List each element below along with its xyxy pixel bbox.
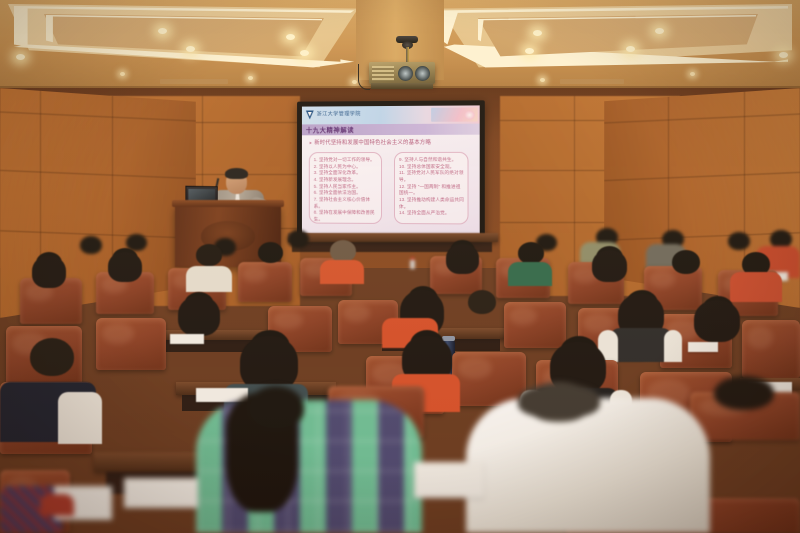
ceiling-downlight-small [540, 78, 545, 82]
lecture-hall-photo: 浙江大学管理学院 十九大精神解读 新时代坚持和发展中国特色社会主义的基本方略 1… [0, 0, 800, 533]
list-item: 9. 坚持人与自然和谐共生。 [399, 157, 464, 164]
water-bottle [410, 260, 415, 269]
ceiling-downlight [286, 34, 295, 40]
attendee-head [196, 244, 222, 266]
attendee-head [330, 240, 356, 262]
list-item: 1. 坚持党对一切工作的领导。 [314, 157, 378, 164]
ceiling-downlight [626, 46, 635, 52]
ceiling-downlight [779, 52, 788, 58]
desk-paper [170, 334, 204, 344]
projector-cable [358, 64, 370, 90]
ceiling-downlight [655, 28, 664, 34]
list-item: 11. 坚持党对人民军队的绝对领导。 [399, 170, 464, 183]
list-item: 4. 坚持新发展理念。 [314, 177, 378, 184]
attendee-white-jacket [466, 398, 710, 533]
attendee-torso [730, 272, 782, 302]
attendee-head [80, 236, 102, 254]
ceiling-downlight-small [248, 76, 253, 80]
projector-base-plate [371, 83, 433, 89]
attendee-hair [32, 256, 66, 288]
attendee-torso [508, 262, 552, 286]
projector-lens-secondary [415, 66, 430, 81]
ceiling-downlight [533, 30, 542, 36]
ceiling-projector [369, 62, 435, 84]
attendee-torso [40, 494, 74, 516]
ceiling-downlight-small [352, 80, 357, 84]
attendee-hair [108, 252, 142, 282]
list-item: 13. 坚持推动构建人类命运共同体。 [399, 197, 464, 211]
list-item: 12. 坚持 “一国两制” 和推进祖国统一。 [399, 184, 464, 198]
slide-subtitle-bullet: 新时代坚持和发展中国特色社会主义的基本方略 [309, 138, 431, 146]
attendee-hair [446, 244, 479, 274]
ceiling-downlight [158, 28, 167, 34]
attendee-torso [186, 266, 232, 292]
ceiling-downlight [525, 48, 534, 54]
ceiling-downlight-small [120, 72, 125, 76]
lectern-top [172, 200, 284, 207]
list-item: 7. 坚持社会主义核心价值体系。 [314, 197, 378, 210]
ceiling-downlight [16, 54, 25, 60]
slide-list-left: 1. 坚持党对一切工作的领导。 2. 坚持以人民为中心。 3. 坚持全面深化改革… [314, 157, 378, 223]
projection-screen: 浙江大学管理学院 十九大精神解读 新时代坚持和发展中国特色社会主义的基本方略 1… [297, 100, 485, 239]
zju-som-logo [305, 109, 315, 120]
hvac-vent [560, 79, 624, 84]
slide-list-box-right: 9. 坚持人与自然和谐共生。 10. 坚持总体国家安全观。 11. 坚持党对人民… [394, 152, 469, 225]
slide-content: 浙江大学管理学院 十九大精神解读 新时代坚持和发展中国特色社会主义的基本方略 1… [302, 105, 480, 234]
attendee-torso [664, 330, 682, 362]
slide-list-right: 9. 坚持人与自然和谐共生。 10. 坚持总体国家安全观。 11. 坚持党对人民… [399, 157, 464, 217]
list-item: 14. 坚持全面从严治党。 [399, 210, 464, 217]
attendee-torso [320, 260, 364, 284]
projector-lens [398, 66, 413, 81]
projector-keypad [372, 66, 394, 81]
attendee-hair [178, 296, 220, 336]
attendee-head [714, 376, 774, 410]
attendee-head [468, 290, 496, 314]
chair [238, 262, 292, 302]
desk-paper [124, 478, 198, 508]
attendee-torso [610, 328, 672, 362]
attendee-hair [518, 384, 600, 418]
slide-title: 十九大精神解读 [306, 125, 354, 134]
attendee-head [728, 232, 750, 250]
presenter-hair [225, 168, 248, 179]
ceiling-downlight [186, 46, 195, 52]
chair [504, 302, 566, 348]
hvac-vent [160, 79, 228, 84]
attendee-hair [694, 300, 740, 342]
ceiling-downlight-small [690, 72, 695, 76]
desk-paper [688, 342, 718, 352]
ceiling-downlight [300, 50, 309, 56]
attendee-head [288, 230, 309, 248]
attendee-hair [592, 250, 627, 282]
slide-list-box-left: 1. 坚持党对一切工作的领导。 2. 坚持以人民为中心。 3. 坚持全面深化改革… [309, 152, 382, 224]
list-item: 8. 坚持在发展中保障和改善民生。 [314, 210, 378, 224]
attendee-torso [58, 392, 102, 444]
attendee-head [518, 242, 544, 264]
chair [96, 318, 166, 370]
attendee-head [248, 386, 304, 430]
slide-header-decoration [431, 107, 478, 121]
desk-paper [414, 462, 484, 498]
attendee-head [672, 250, 700, 274]
slide-organization-name: 浙江大学管理学院 [317, 110, 361, 117]
attendee-head [30, 338, 74, 376]
chair [742, 320, 800, 378]
attendee-head [258, 242, 283, 263]
